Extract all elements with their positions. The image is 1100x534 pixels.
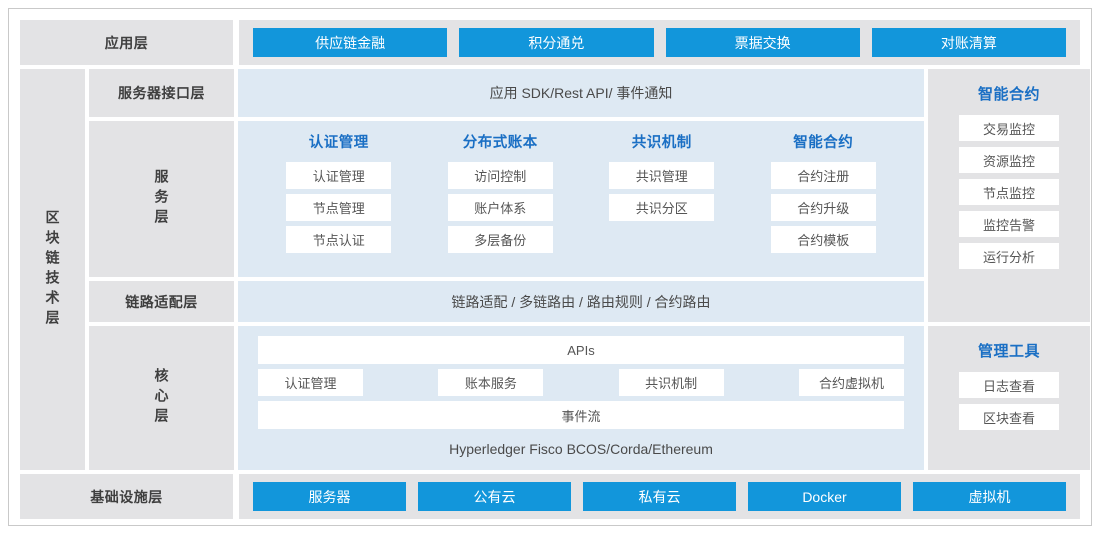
infra-button-public-cloud[interactable]: 公有云: [418, 482, 571, 511]
service-chip-node-authentication[interactable]: 节点认证: [286, 226, 391, 253]
interface-layer-text: 应用 SDK/Rest API/ 事件通知: [238, 69, 924, 117]
adapter-layer-content: 链路适配 / 多链路由 / 路由规则 / 合约路由: [238, 281, 924, 322]
service-chip-multilayer-backup[interactable]: 多层备份: [448, 226, 553, 253]
side-panel-smart-contract: 智能合约 交易监控 资源监控 节点监控 监控告警 运行分析: [928, 69, 1090, 322]
app-button-bill-exchange[interactable]: 票据交换: [666, 28, 860, 57]
core-platforms-text: Hyperledger Fisco BCOS/Corda/Ethereum: [258, 434, 904, 464]
core-module-consensus-mechanism[interactable]: 共识机制: [619, 369, 724, 396]
core-layer-label: 核心层: [89, 326, 234, 470]
service-layer-label: 服务层: [89, 121, 234, 277]
side-panel-inner: 智能合约 交易监控 资源监控 节点监控 监控告警 运行分析: [928, 69, 1090, 322]
service-layer-content: 认证管理 认证管理 节点管理 节点认证 分布式账本 访问控制 账户体系 多层备份…: [238, 121, 924, 277]
service-column-head: 智能合约: [793, 131, 853, 152]
infra-button-private-cloud[interactable]: 私有云: [583, 482, 736, 511]
blockchain-tech-layer-spine: 区块链技术层: [20, 69, 85, 470]
side-panel-title: 管理工具: [978, 340, 1040, 361]
diagram-frame: 应用层 供应链金融 积分通兑 票据交换 对账清算 区块链技术层 服务器接口层 应…: [8, 8, 1092, 526]
service-layer-label-text: 服务层: [155, 169, 169, 229]
side-panel-management-tools: 管理工具 日志查看 区块查看: [928, 326, 1090, 470]
core-layer-content: APIs 认证管理 账本服务 共识机制 合约虚拟机 事件流 Hyperledge…: [238, 326, 924, 470]
core-modules-row: 认证管理 账本服务 共识机制 合约虚拟机: [258, 369, 904, 396]
infra-button-docker[interactable]: Docker: [748, 482, 901, 511]
service-column-consensus: 共识机制 共识管理 共识分区: [581, 131, 743, 269]
infra-button-server[interactable]: 服务器: [253, 482, 406, 511]
service-column-smart-contract: 智能合约 合约注册 合约升级 合约模板: [743, 131, 905, 269]
core-layer-stack: APIs 认证管理 账本服务 共识机制 合约虚拟机 事件流 Hyperledge…: [238, 326, 924, 470]
core-module-auth-management[interactable]: 认证管理: [258, 369, 363, 396]
side-chip-block-viewer[interactable]: 区块查看: [959, 404, 1059, 430]
side-chip-resource-monitoring[interactable]: 资源监控: [959, 147, 1059, 173]
core-module-contract-vm[interactable]: 合约虚拟机: [799, 369, 904, 396]
service-chip-consensus-management[interactable]: 共识管理: [609, 162, 714, 189]
service-column-authentication: 认证管理 认证管理 节点管理 节点认证: [258, 131, 420, 269]
side-chip-transaction-monitoring[interactable]: 交易监控: [959, 115, 1059, 141]
adapter-layer-text: 链路适配 / 多链路由 / 路由规则 / 合约路由: [238, 281, 924, 322]
side-panel-title: 智能合约: [978, 83, 1040, 104]
infrastructure-layer-label: 基础设施层: [20, 474, 233, 519]
app-button-supply-chain-finance[interactable]: 供应链金融: [253, 28, 447, 57]
service-chip-contract-template[interactable]: 合约模板: [771, 226, 876, 253]
service-chip-contract-registration[interactable]: 合约注册: [771, 162, 876, 189]
core-apis-bar[interactable]: APIs: [258, 336, 904, 364]
core-layer-label-text: 核心层: [155, 368, 169, 428]
app-button-points-exchange[interactable]: 积分通兑: [459, 28, 653, 57]
adapter-layer-label: 链路适配层: [89, 281, 234, 322]
service-column-head: 分布式账本: [463, 131, 538, 152]
side-chip-node-monitoring[interactable]: 节点监控: [959, 179, 1059, 205]
architecture-diagram: 应用层 供应链金融 积分通兑 票据交换 对账清算 区块链技术层 服务器接口层 应…: [0, 0, 1100, 534]
side-chip-log-viewer[interactable]: 日志查看: [959, 372, 1059, 398]
side-chip-monitoring-alarm[interactable]: 监控告警: [959, 211, 1059, 237]
blockchain-tech-layer-label: 区块链技术层: [46, 210, 60, 330]
core-module-ledger-service[interactable]: 账本服务: [438, 369, 543, 396]
service-chip-access-control[interactable]: 访问控制: [448, 162, 553, 189]
infra-button-virtual-machine[interactable]: 虚拟机: [913, 482, 1066, 511]
interface-layer-label: 服务器接口层: [89, 69, 234, 117]
service-chip-consensus-partition[interactable]: 共识分区: [609, 194, 714, 221]
service-column-head: 认证管理: [309, 131, 369, 152]
service-chip-contract-upgrade[interactable]: 合约升级: [771, 194, 876, 221]
app-button-reconciliation-settlement[interactable]: 对账清算: [872, 28, 1066, 57]
side-panel-inner: 管理工具 日志查看 区块查看: [928, 326, 1090, 470]
application-layer-label: 应用层: [20, 20, 233, 65]
service-chip-auth-management[interactable]: 认证管理: [286, 162, 391, 189]
service-chip-node-management[interactable]: 节点管理: [286, 194, 391, 221]
core-event-stream-bar[interactable]: 事件流: [258, 401, 904, 429]
application-layer-apps: 供应链金融 积分通兑 票据交换 对账清算: [239, 20, 1080, 65]
interface-layer-content: 应用 SDK/Rest API/ 事件通知: [238, 69, 924, 117]
service-chip-account-system[interactable]: 账户体系: [448, 194, 553, 221]
side-chip-operation-analysis[interactable]: 运行分析: [959, 243, 1059, 269]
service-column-head: 共识机制: [632, 131, 692, 152]
infrastructure-layer-items: 服务器 公有云 私有云 Docker 虚拟机: [239, 474, 1080, 519]
service-layer-columns: 认证管理 认证管理 节点管理 节点认证 分布式账本 访问控制 账户体系 多层备份…: [238, 121, 924, 277]
service-column-distributed-ledger: 分布式账本 访问控制 账户体系 多层备份: [420, 131, 582, 269]
